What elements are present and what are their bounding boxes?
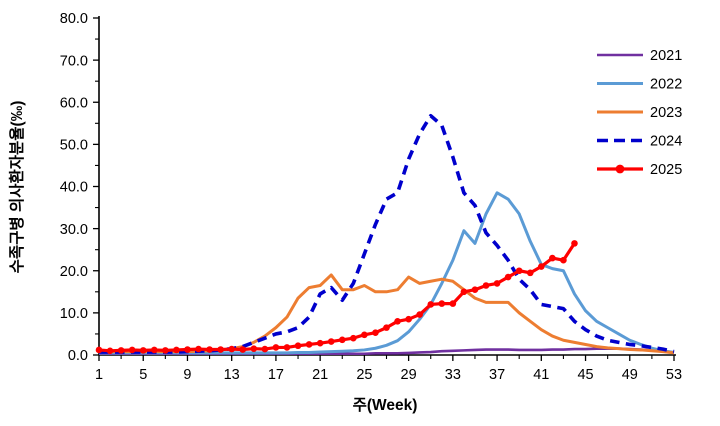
- y-tick-label: 20.0: [60, 264, 88, 280]
- series-marker-2025: [450, 300, 457, 307]
- x-tick-label: 13: [224, 367, 240, 383]
- y-tick-label: 60.0: [60, 95, 88, 111]
- series-marker-2025: [273, 344, 280, 351]
- series-marker-2025: [350, 335, 357, 342]
- x-tick-label: 33: [445, 367, 461, 383]
- x-tick-label: 5: [139, 367, 147, 383]
- series-marker-2025: [107, 347, 114, 354]
- x-axis-group: 1591317212529333741454953: [95, 355, 682, 383]
- series-marker-2025: [527, 270, 534, 277]
- series-marker-2025: [538, 263, 545, 270]
- x-tick-label: 25: [356, 367, 372, 383]
- series-marker-2025: [262, 346, 269, 353]
- legend-label-2022: 2022: [650, 77, 682, 93]
- series-marker-2025: [306, 341, 313, 348]
- series-marker-2025: [206, 346, 213, 353]
- x-tick-label: 37: [489, 367, 505, 383]
- series-marker-2025: [328, 338, 335, 345]
- legend-marker-2025: [616, 165, 625, 174]
- series-marker-2025: [472, 286, 479, 293]
- y-tick-label: 50.0: [60, 138, 88, 154]
- x-tick-label: 45: [577, 367, 593, 383]
- series-marker-2025: [162, 347, 169, 354]
- series-marker-2025: [560, 257, 567, 264]
- hfmd-weekly-incidence-chart: 0.010.020.030.040.050.060.070.080.0 1591…: [0, 0, 720, 426]
- x-tick-label: 17: [268, 367, 284, 383]
- series-marker-2025: [195, 346, 202, 353]
- legend-label-2023: 2023: [650, 105, 682, 121]
- series-marker-2025: [184, 346, 191, 353]
- series-marker-2025: [151, 347, 158, 354]
- y-axis-group: 0.010.020.030.040.050.060.070.080.0: [60, 11, 99, 364]
- series-marker-2025: [129, 347, 136, 354]
- y-tick-label: 70.0: [60, 53, 88, 69]
- series-line-2024: [99, 116, 674, 352]
- legend-label-2025: 2025: [650, 162, 682, 178]
- series-marker-2025: [361, 331, 368, 338]
- legend-group: 20212022202320242025: [597, 48, 682, 178]
- series-marker-2025: [461, 289, 468, 296]
- series-marker-2025: [394, 318, 401, 325]
- y-tick-label: 10.0: [60, 306, 88, 322]
- series-marker-2025: [549, 255, 556, 262]
- series-marker-2025: [317, 340, 324, 347]
- y-tick-label: 80.0: [60, 11, 88, 27]
- x-tick-label: 21: [312, 367, 328, 383]
- x-tick-label: 49: [622, 367, 638, 383]
- x-tick-label: 41: [533, 367, 549, 383]
- series-marker-2025: [516, 267, 523, 274]
- y-tick-label: 30.0: [60, 222, 88, 238]
- series-marker-2025: [339, 337, 346, 344]
- series-marker-2025: [284, 344, 291, 351]
- series-marker-2025: [295, 342, 302, 349]
- series-marker-2025: [505, 274, 512, 281]
- x-tick-label: 29: [401, 367, 417, 383]
- y-tick-label: 0.0: [68, 348, 88, 364]
- legend-label-2021: 2021: [650, 48, 682, 64]
- series-marker-2025: [217, 346, 224, 353]
- y-axis-title: 수족구병 의사환자분율(‰): [8, 101, 26, 274]
- y-tick-label: 40.0: [60, 180, 88, 196]
- series-marker-2025: [372, 329, 379, 336]
- series-line-2025: [99, 243, 574, 350]
- series-marker-2025: [173, 347, 180, 354]
- series-marker-2025: [405, 316, 412, 323]
- series-marker-2025: [239, 346, 246, 353]
- x-tick-label: 53: [666, 367, 682, 383]
- series-marker-2025: [494, 280, 501, 287]
- series-marker-2025: [251, 345, 258, 352]
- x-tick-label: 9: [183, 367, 191, 383]
- series-group: [96, 116, 674, 354]
- series-marker-2025: [383, 324, 390, 331]
- series-marker-2025: [96, 347, 103, 354]
- series-marker-2025: [427, 301, 434, 308]
- series-marker-2025: [571, 240, 578, 247]
- series-marker-2025: [228, 346, 235, 353]
- series-marker-2025: [438, 300, 445, 307]
- series-marker-2025: [140, 347, 147, 354]
- legend-label-2024: 2024: [650, 134, 682, 150]
- x-axis-title: 주(Week): [353, 396, 418, 414]
- series-marker-2025: [118, 347, 125, 354]
- series-marker-2025: [483, 282, 490, 289]
- x-tick-label: 1: [95, 367, 103, 383]
- series-marker-2025: [416, 311, 423, 318]
- chart-svg: 0.010.020.030.040.050.060.070.080.0 1591…: [0, 0, 720, 426]
